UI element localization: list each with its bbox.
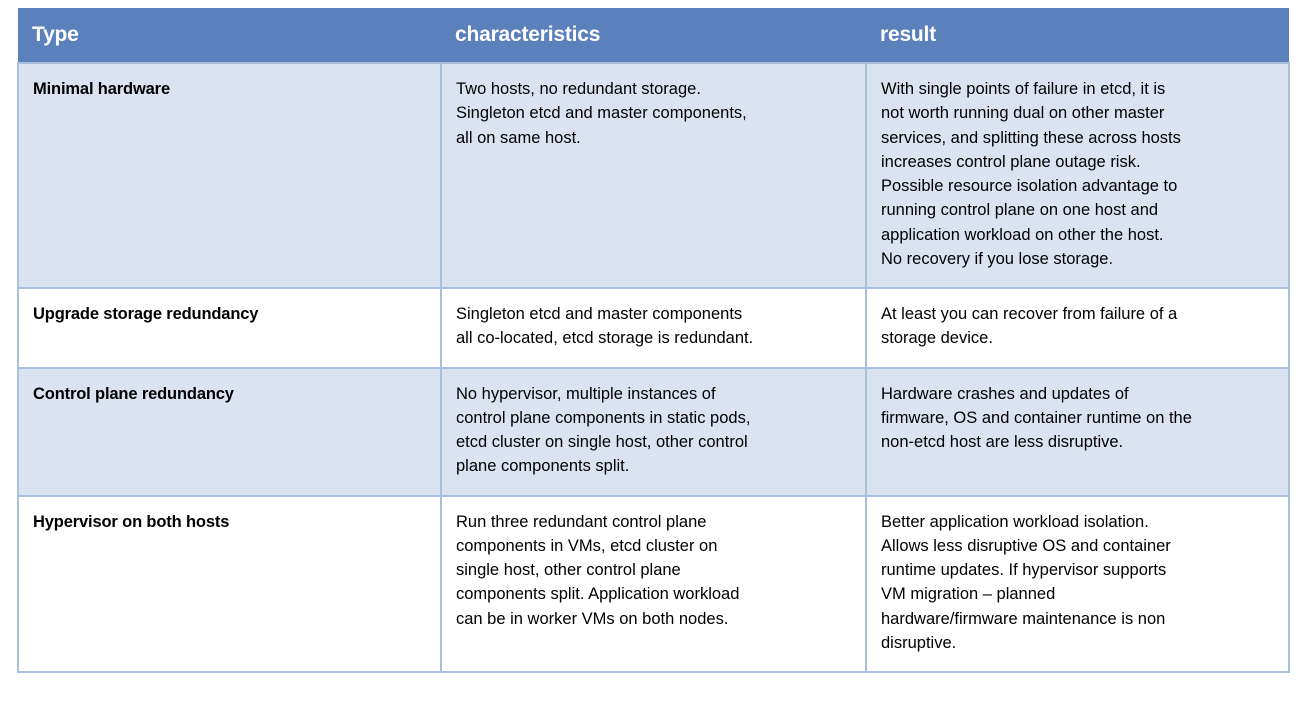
table-row: Minimal hardware Two hosts, no redundant… <box>18 63 1289 288</box>
table-body: Minimal hardware Two hosts, no redundant… <box>18 63 1289 672</box>
cell-characteristics: Run three redundant control plane compon… <box>441 496 866 673</box>
column-header-type: Type <box>18 8 441 63</box>
table-header: Type characteristics result <box>18 8 1289 63</box>
cell-type: Control plane redundancy <box>18 368 441 496</box>
cell-result: Better application workload isolation. A… <box>866 496 1289 673</box>
column-header-characteristics: characteristics <box>441 8 866 63</box>
table-row: Control plane redundancy No hypervisor, … <box>18 368 1289 496</box>
table-header-row: Type characteristics result <box>18 8 1289 63</box>
cell-characteristics: Two hosts, no redundant storage. Singlet… <box>441 63 866 288</box>
comparison-table-container: Type characteristics result Minimal hard… <box>17 8 1288 673</box>
cell-type: Hypervisor on both hosts <box>18 496 441 673</box>
column-header-result: result <box>866 8 1289 63</box>
cell-characteristics: Singleton etcd and master components all… <box>441 288 866 368</box>
table-row: Hypervisor on both hosts Run three redun… <box>18 496 1289 673</box>
cell-result: Hardware crashes and updates of firmware… <box>866 368 1289 496</box>
cell-type: Upgrade storage redundancy <box>18 288 441 368</box>
cell-type: Minimal hardware <box>18 63 441 288</box>
cell-result: With single points of failure in etcd, i… <box>866 63 1289 288</box>
table-row: Upgrade storage redundancy Singleton etc… <box>18 288 1289 368</box>
comparison-table: Type characteristics result Minimal hard… <box>17 8 1290 673</box>
cell-characteristics: No hypervisor, multiple instances of con… <box>441 368 866 496</box>
cell-result: At least you can recover from failure of… <box>866 288 1289 368</box>
